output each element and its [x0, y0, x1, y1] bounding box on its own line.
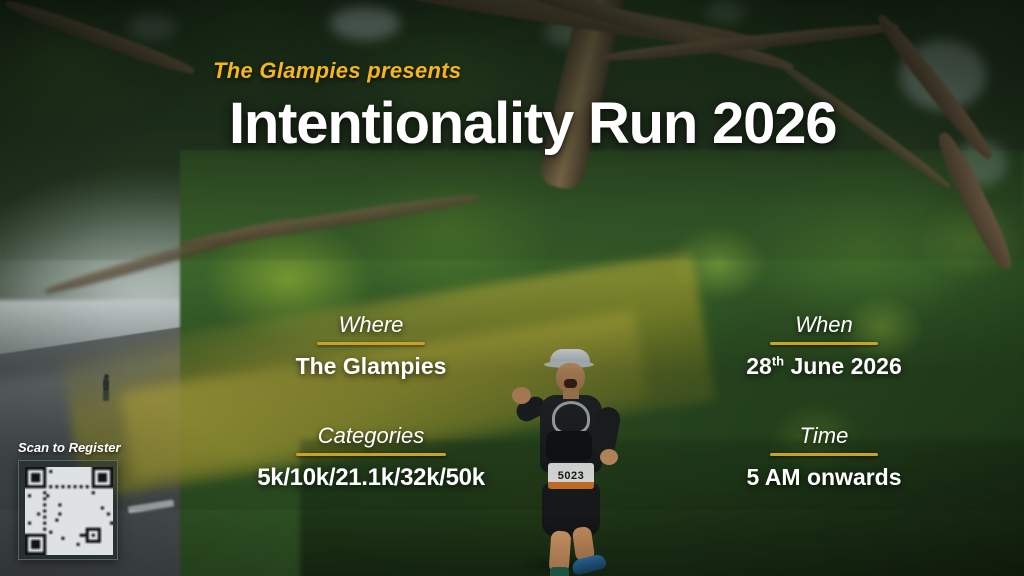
qr-registration-block[interactable]: Scan to Register [18, 440, 130, 560]
gold-rule [317, 342, 425, 345]
qr-code-icon[interactable] [25, 467, 113, 555]
qr-caption: Scan to Register [18, 440, 130, 455]
event-poster: 5023 The Glampies presents Intentionalit… [0, 0, 1024, 576]
when-day: 28 [746, 353, 772, 379]
gold-rule [770, 453, 878, 456]
gold-rule [770, 342, 878, 345]
where-label: Where [242, 312, 500, 338]
presenter-line: The Glampies presents [213, 58, 461, 84]
time-label: Time [705, 423, 943, 449]
detail-block-categories: Categories 5k/10k/21.1k/32k/50k [232, 423, 510, 492]
when-day-suffix: th [772, 353, 784, 368]
categories-value: 5k/10k/21.1k/32k/50k [232, 464, 510, 492]
time-value: 5 AM onwards [705, 464, 943, 491]
detail-block-where: Where The Glampies [242, 312, 500, 380]
poster-content: The Glampies presents Intentionality Run… [0, 0, 1024, 576]
when-value: 28th June 2026 [705, 353, 943, 380]
categories-label: Categories [232, 423, 510, 449]
where-value: The Glampies [242, 353, 500, 380]
qr-frame [18, 460, 118, 560]
when-label: When [705, 312, 943, 338]
detail-block-when: When 28th June 2026 [705, 312, 943, 380]
gold-rule [296, 453, 446, 456]
poster-title: Intentionality Run 2026 [229, 94, 836, 154]
detail-block-time: Time 5 AM onwards [705, 423, 943, 491]
when-month-year: June 2026 [784, 353, 902, 379]
